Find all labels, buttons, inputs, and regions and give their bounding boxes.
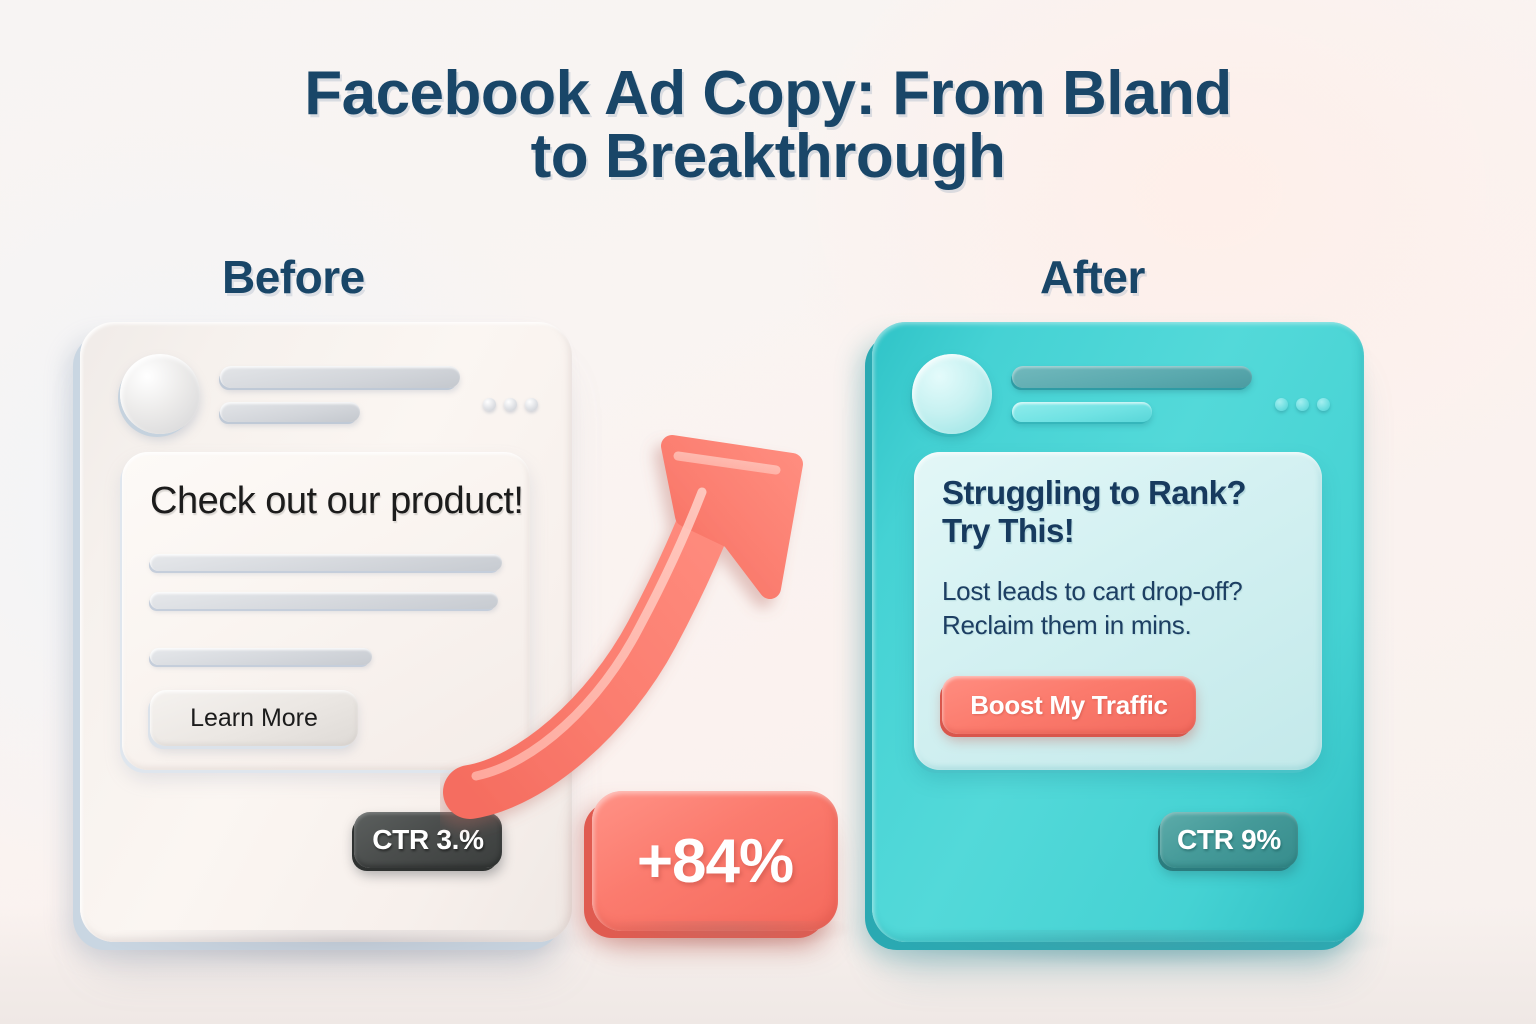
after-headline: Struggling to Rank? Try This!	[942, 474, 1302, 551]
page-title-line-2: to Breakthrough	[0, 125, 1536, 188]
page-title-line-1: Facebook Ad Copy: From Bland	[304, 59, 1232, 128]
before-ad-card: Check out our product! Learn More CTR 3.…	[80, 322, 572, 942]
body-placeholder-line	[150, 554, 502, 571]
after-ad-card: Struggling to Rank? Try This! Lost leads…	[872, 322, 1364, 942]
after-label: After	[1040, 250, 1145, 304]
page-title: Facebook Ad Copy: From Bland to Breakthr…	[0, 62, 1536, 188]
three-dots-menu-icon[interactable]	[483, 398, 538, 411]
subtitle-placeholder-bar	[220, 402, 360, 422]
subtitle-placeholder-bar	[1012, 402, 1152, 422]
before-headline: Check out our product!	[150, 480, 523, 523]
before-ctr-badge: CTR 3.%	[354, 812, 502, 868]
learn-more-button[interactable]: Learn More	[150, 690, 358, 746]
boost-my-traffic-button[interactable]: Boost My Traffic	[942, 676, 1196, 734]
after-ctr-badge: CTR 9%	[1160, 812, 1298, 868]
body-placeholder-line	[150, 648, 372, 665]
name-placeholder-bar	[220, 366, 460, 388]
after-card-header	[872, 322, 1364, 450]
three-dots-menu-icon[interactable]	[1275, 398, 1330, 411]
before-label: Before	[222, 250, 365, 304]
improvement-badge: +84%	[592, 791, 838, 931]
avatar	[912, 354, 992, 434]
before-card-header	[80, 322, 572, 450]
avatar	[120, 354, 200, 434]
before-ad-panel: Check out our product! Learn More	[122, 452, 530, 770]
name-placeholder-bar	[1012, 366, 1252, 388]
after-ad-panel: Struggling to Rank? Try This! Lost leads…	[914, 452, 1322, 770]
after-body-text: Lost leads to cart drop-off? Reclaim the…	[942, 574, 1310, 643]
body-placeholder-line	[150, 592, 498, 609]
